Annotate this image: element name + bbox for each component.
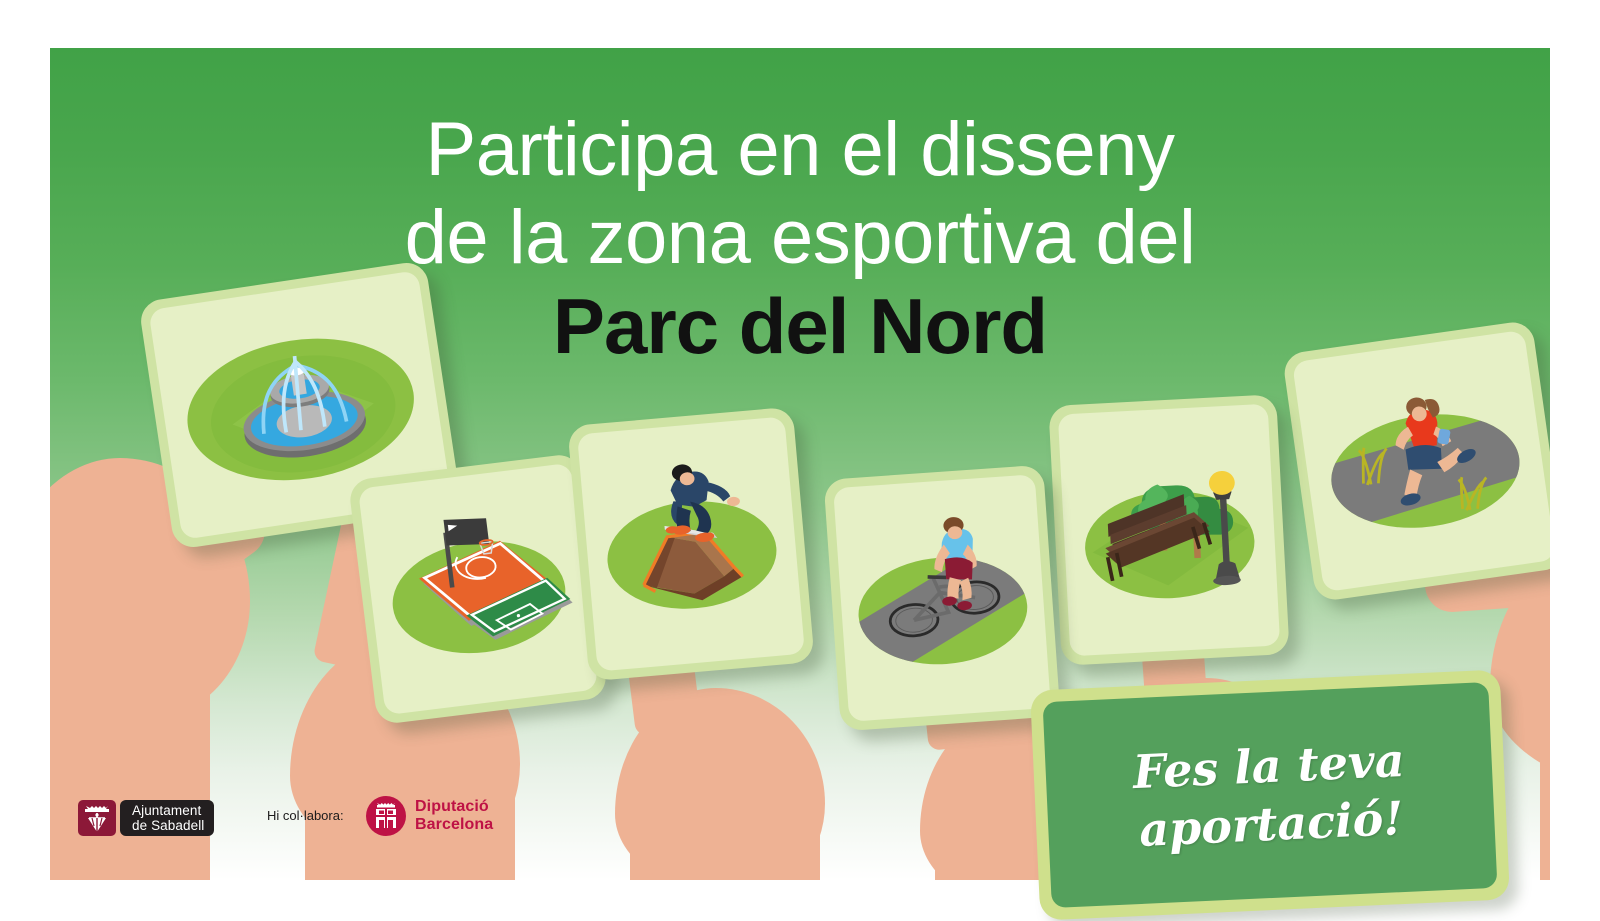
diputacio-line-2: Barcelona <box>415 816 493 834</box>
cyclist-icon <box>833 474 1051 722</box>
card-skatepark-face <box>577 416 805 671</box>
sports-court-icon <box>358 463 598 715</box>
card-bike-path-face <box>833 474 1051 722</box>
diputacio-line-1: Diputació <box>415 798 493 816</box>
card-running-path[interactable] <box>1282 320 1550 603</box>
card-skatepark[interactable] <box>567 407 814 682</box>
ajuntament-line-2: de Sabadell <box>132 818 204 833</box>
diputacio-seal-icon <box>366 796 406 836</box>
card-sports-court[interactable] <box>348 453 608 725</box>
sabadell-coat-of-arms-icon <box>78 800 116 836</box>
card-sports-court-face <box>358 463 598 715</box>
logo-ajuntament-sabadell[interactable]: Ajuntament de Sabadell <box>78 800 214 836</box>
ajuntament-wordmark: Ajuntament de Sabadell <box>120 800 214 836</box>
footer-logos: Ajuntament de Sabadell Hi col·labora: <box>0 788 1600 848</box>
ajuntament-line-1: Ajuntament <box>132 803 204 818</box>
park-bench-icon <box>1058 404 1280 657</box>
skateboarder-icon <box>577 416 805 671</box>
logo-diputacio-barcelona[interactable]: Diputació Barcelona <box>366 796 493 836</box>
headline-line-1: Participa en el disseny <box>50 106 1550 194</box>
card-running-path-face <box>1292 330 1550 592</box>
diputacio-seal-svg <box>366 796 406 836</box>
card-bench-trees[interactable] <box>1048 394 1289 666</box>
headline-line-2: de la zona esportiva del <box>50 194 1550 282</box>
runner-icon <box>1292 330 1550 592</box>
sabadell-shield-svg <box>78 803 116 835</box>
collaborator-label: Hi col·labora: <box>267 808 344 823</box>
card-bike-path[interactable] <box>823 465 1060 732</box>
card-bench-trees-face <box>1058 404 1280 657</box>
poster-canvas: Participa en el disseny de la zona espor… <box>0 0 1600 900</box>
diputacio-wordmark: Diputació Barcelona <box>415 798 493 834</box>
